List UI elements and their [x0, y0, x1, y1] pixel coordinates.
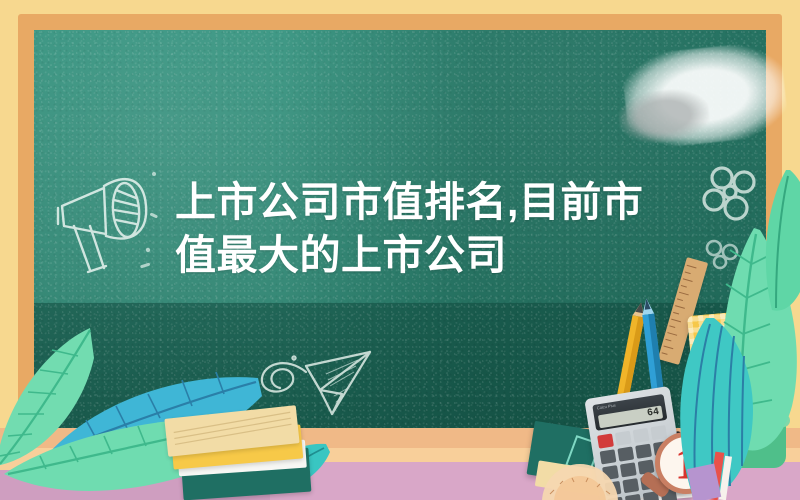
flower-chalk-drawing-small [700, 236, 744, 270]
page-title: 上市公司市值排名,目前市 值最大的上市公司 [175, 176, 645, 282]
chalk-eraser-smudge [620, 40, 789, 151]
board-bottom-shade [34, 303, 766, 500]
flower-chalk-drawing [696, 160, 770, 234]
page-title-line-2: 值最大的上市公司 [175, 229, 645, 282]
cover-image-canvas: Note Book Calcu Plus 64 [0, 0, 800, 500]
page-title-line-1: 上市公司市值排名,目前市 [175, 176, 645, 229]
megaphone-chalk-drawing [44, 150, 164, 280]
paper-plane-chalk-drawing [246, 344, 376, 424]
